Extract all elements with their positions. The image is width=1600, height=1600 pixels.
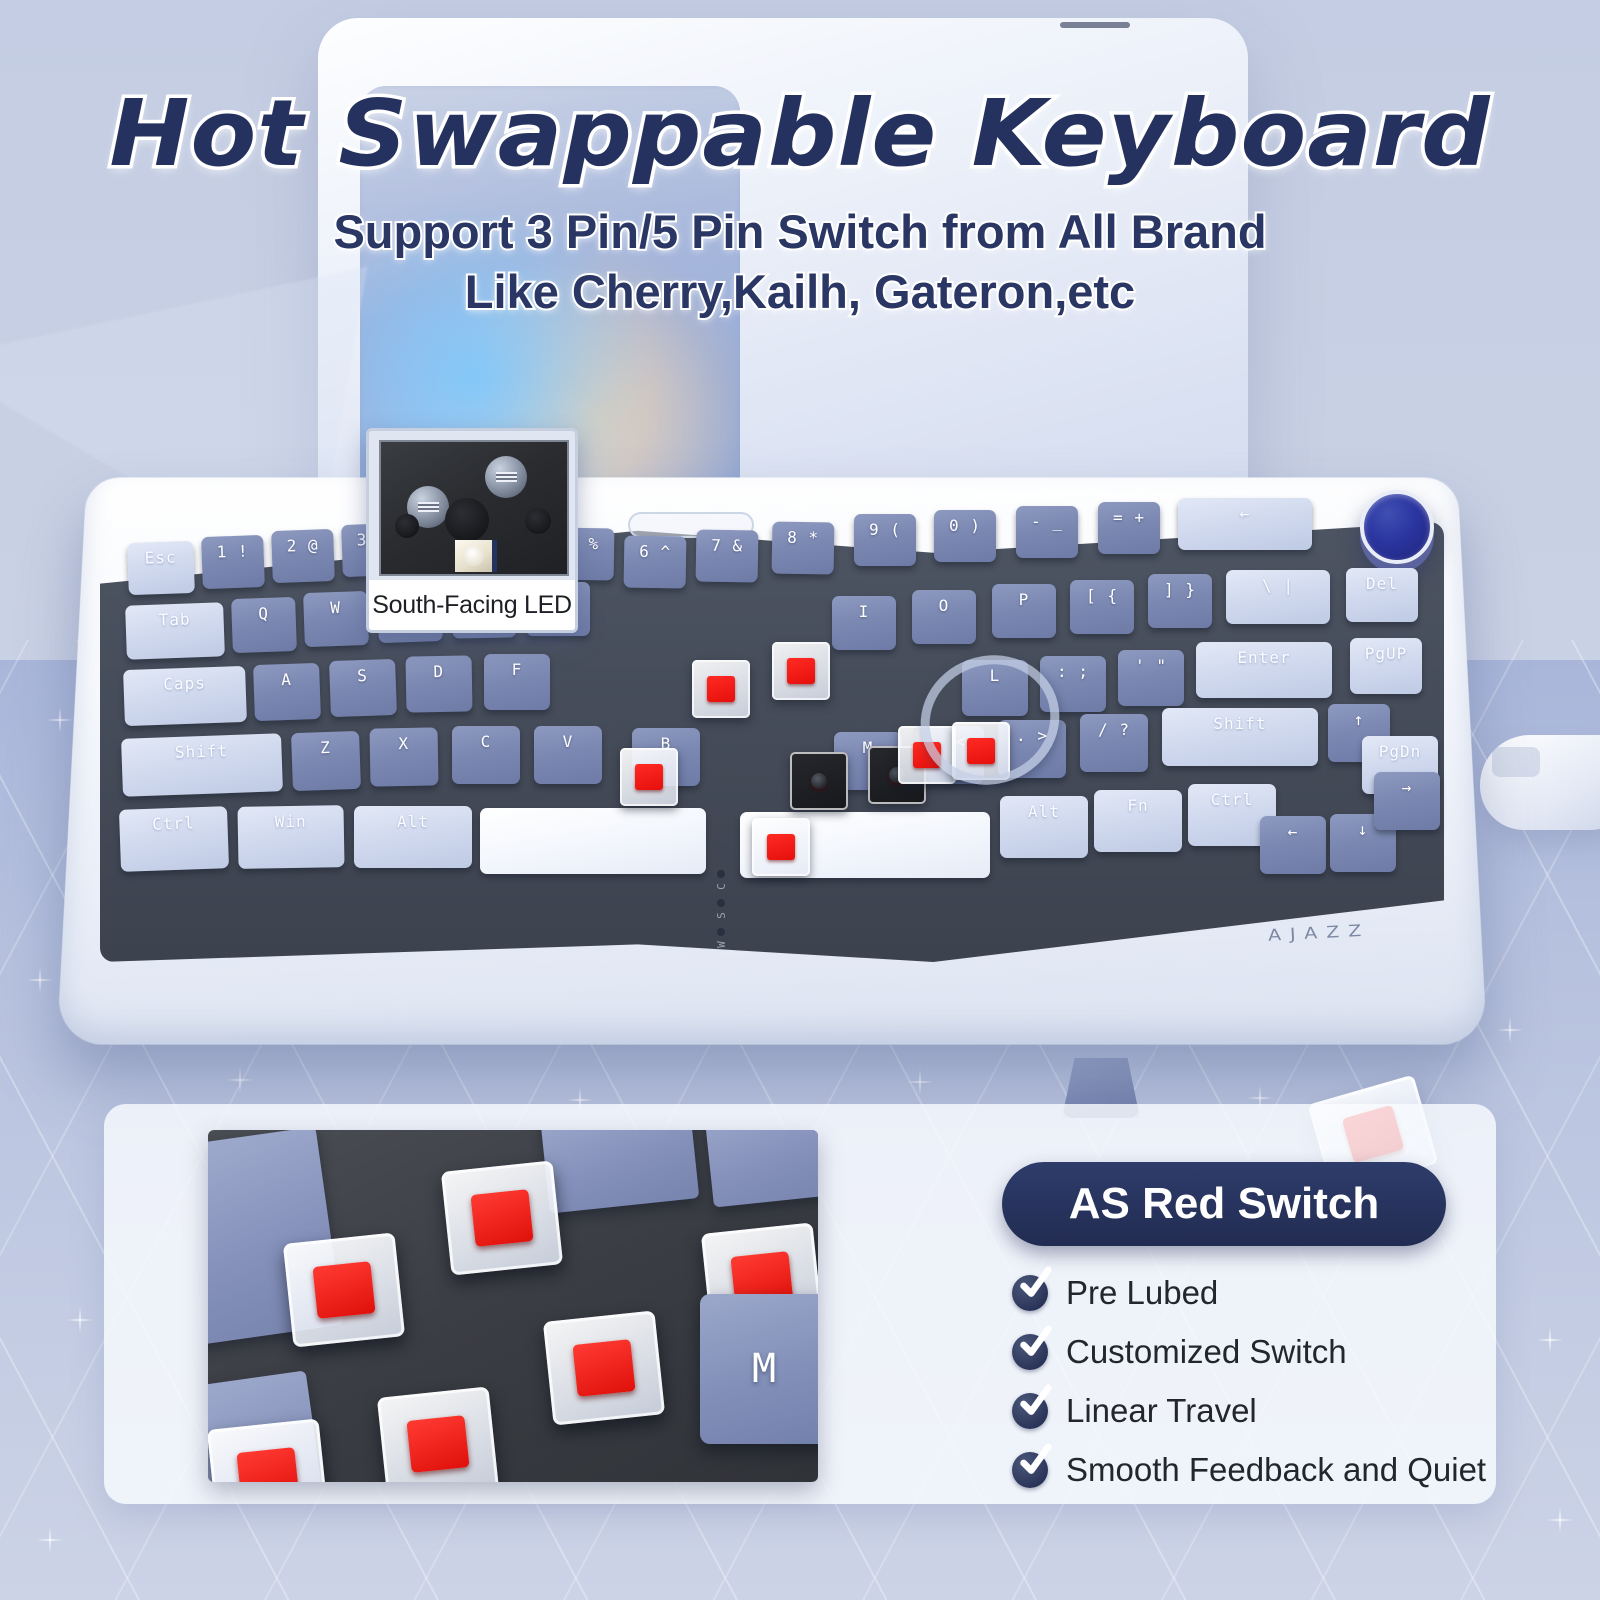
key-8[interactable]: 8 * [772,521,835,574]
hotswap-socket-photo [379,440,569,576]
key-minus[interactable]: - _ [1016,506,1078,558]
key-6[interactable]: 6 ^ [624,535,687,588]
feature-label: Linear Travel [1066,1392,1257,1430]
key-v[interactable]: V [534,726,602,784]
socket-hole-icon [525,508,551,534]
key-win[interactable]: Win [237,805,344,869]
exposed-red-switch [752,818,810,876]
key-f[interactable]: F [484,654,550,710]
key-esc[interactable]: Esc [127,541,195,595]
key-x[interactable]: X [369,727,438,786]
photo-red-switch [543,1310,665,1425]
photo-keycap [539,1130,700,1214]
key-bracket-right[interactable]: ] } [1148,574,1212,628]
key-arrow-right[interactable]: → [1374,772,1440,830]
key-alt-left[interactable]: Alt [354,806,472,868]
exposed-red-switch [772,642,830,700]
exposed-red-switch [620,748,678,806]
key-z[interactable]: Z [291,731,361,791]
monitor-notch [1060,22,1130,28]
indicator-win: W [706,928,736,951]
feature-label: Customized Switch [1066,1333,1347,1371]
key-arrow-left[interactable]: ← [1260,816,1326,874]
list-item: Linear Travel [1012,1392,1492,1430]
check-icon [1012,1275,1048,1311]
key-enter[interactable]: Enter [1196,642,1332,698]
status-indicator-leds: C S W [706,870,736,957]
key-fn[interactable]: Fn [1094,790,1182,852]
computer-mouse [1480,735,1600,830]
switch-macro-photo: M [208,1130,818,1482]
feature-label: Pre Lubed [1066,1274,1218,1312]
key-s[interactable]: S [329,659,397,717]
key-ctrl-left[interactable]: Ctrl [119,806,229,872]
led-diode-icon [455,540,497,572]
key-caps[interactable]: Caps [123,666,247,726]
key-w[interactable]: W [303,591,369,647]
photo-keycap [703,1130,818,1208]
key-9[interactable]: 9 ( [854,514,916,566]
photo-red-switch [441,1160,563,1275]
key-d[interactable]: D [406,655,473,712]
key-p[interactable]: P [992,584,1056,638]
volume-knob[interactable] [1360,490,1434,564]
list-item: Smooth Feedback and Quiet [1012,1451,1492,1489]
indicator-scroll: S [706,899,736,922]
list-item: Pre Lubed [1012,1274,1492,1312]
key-slash[interactable]: / ? [1080,714,1148,772]
key-equal[interactable]: = + [1098,502,1160,554]
led-dot-icon [717,899,725,907]
list-item: Customized Switch [1012,1333,1492,1371]
key-bracket-left[interactable]: [ { [1070,580,1134,634]
exposed-red-switch [692,660,750,718]
page-subtitle: Support 3 Pin/5 Pin Switch from All Bran… [0,202,1600,322]
check-icon [1012,1452,1048,1488]
empty-hotswap-socket [790,752,848,810]
key-7[interactable]: 7 & [696,529,759,582]
indicator-caps: C [706,870,736,893]
bottom-feature-panel: M AS Red Switch Pre Lubed Customized Swi… [104,1104,1496,1504]
socket-hole-icon [395,514,419,538]
subtitle-line-2: Like Cherry,Kailh, Gateron,etc [0,262,1600,322]
led-dot-icon [717,928,725,936]
key-a[interactable]: A [253,663,321,721]
key-c[interactable]: C [452,726,520,784]
key-0[interactable]: 0 ) [934,510,996,562]
headline-block: Hot Swappable Keyboard Support 3 Pin/5 P… [0,88,1600,322]
as-red-switch-badge: AS Red Switch [1002,1162,1446,1246]
keyboard-product: Esc 1 ! 2 @ 3 # 4 $ 5 % 6 ^ 7 & 8 * 9 ( … [72,470,1472,1040]
page-title: Hot Swappable Keyboard [0,88,1600,180]
socket-center-hole-icon [445,498,489,542]
check-icon [1012,1393,1048,1429]
photo-red-switch [208,1418,329,1482]
key-del[interactable]: Del [1346,568,1418,622]
feature-list: Pre Lubed Customized Switch Linear Trave… [1012,1274,1492,1510]
south-facing-led-callout: South-Facing LED [366,428,578,633]
key-alt-right[interactable]: Alt [1000,796,1088,858]
key-backslash[interactable]: \ | [1226,570,1330,624]
feature-label: Smooth Feedback and Quiet [1066,1451,1486,1489]
led-dot-icon [717,870,725,878]
subtitle-line-1: Support 3 Pin/5 Pin Switch from All Bran… [0,202,1600,262]
callout-label: South-Facing LED [369,580,575,630]
key-1[interactable]: 1 ! [201,535,265,589]
photo-m-keycap: M [700,1294,818,1444]
key-q[interactable]: Q [231,597,297,653]
key-space-left[interactable] [480,808,706,874]
key-shift-right[interactable]: Shift [1162,708,1318,766]
key-shift-left[interactable]: Shift [121,733,283,797]
key-backspace[interactable]: ← [1178,498,1312,550]
photo-red-switch [377,1386,499,1482]
key-o[interactable]: O [912,590,976,644]
socket-pad-icon [485,456,527,498]
key-2[interactable]: 2 @ [271,529,335,583]
key-quote[interactable]: ' " [1118,650,1184,706]
key-pgup[interactable]: PgUP [1350,638,1422,694]
check-icon [1012,1334,1048,1370]
photo-red-switch [283,1232,405,1347]
key-tab[interactable]: Tab [125,602,225,659]
key-i[interactable]: I [832,596,896,650]
